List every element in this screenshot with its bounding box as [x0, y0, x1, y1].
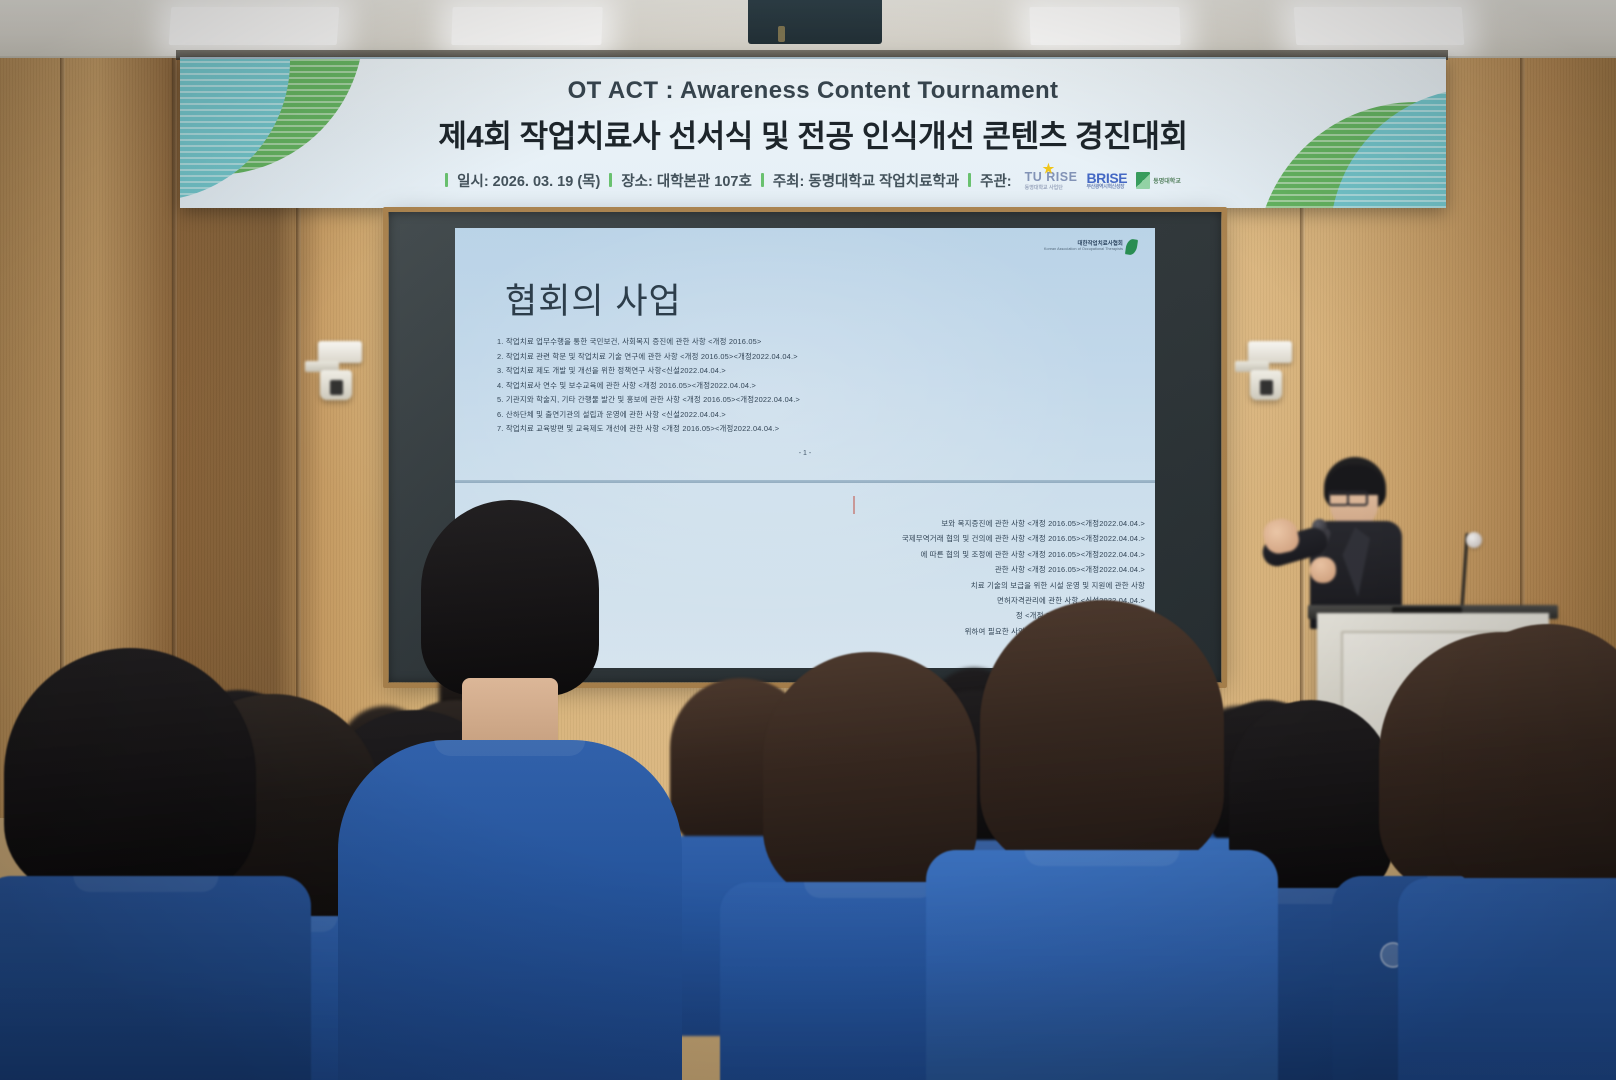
bar-separator-icon — [445, 173, 448, 187]
ceiling-light-4 — [1294, 7, 1465, 45]
event-banner: OT ACT : Awareness Content Tournament 제4… — [180, 57, 1446, 208]
audience-member-front-left — [0, 648, 300, 1080]
eyeglasses-icon — [1328, 491, 1368, 502]
camera-mount — [1248, 341, 1292, 363]
presenter-hand-holding-mic — [1310, 557, 1336, 583]
lecture-hall-photo: OT ACT : Awareness Content Tournament 제4… — [0, 0, 1616, 1080]
ceiling-projector — [748, 0, 882, 44]
banner-sponsor-logos: ★ TU RISE 동명대학교 사업단 BRISE 부산광역시혁신성장 — [1025, 170, 1181, 191]
banner-meta-row: 일시: 2026. 03. 19 (목) 장소: 대학본관 107호 주최: 동… — [445, 170, 1181, 191]
uniform-top — [338, 740, 682, 1080]
hair — [980, 600, 1224, 868]
audience-member-edge-right — [1478, 624, 1616, 1080]
sponsor-logo-brise: BRISE 부산광역시혁신성장 — [1086, 171, 1127, 190]
banner-korean-title: 제4회 작업치료사 선서식 및 전공 인식개선 콘텐츠 경진대회 — [438, 111, 1187, 156]
camera-lens-icon — [1260, 380, 1273, 395]
bar-separator-icon — [609, 173, 612, 187]
sponsor-logo-turise: ★ TU RISE 동명대학교 사업단 — [1025, 170, 1078, 191]
uniform-top — [1398, 878, 1616, 1080]
camera-head — [1250, 370, 1282, 400]
audience-member-center — [330, 500, 690, 1080]
hair — [4, 648, 256, 894]
bar-separator-icon — [968, 173, 971, 187]
security-camera-left — [312, 341, 364, 403]
ceiling-light-2 — [451, 7, 602, 45]
sponsor-sub-1: 부산광역시혁신성장 — [1086, 185, 1127, 190]
gooseneck-mic-head — [1466, 532, 1482, 548]
ceiling-light-1 — [169, 7, 340, 45]
suit-lapel — [1340, 527, 1370, 597]
book-icon — [1136, 172, 1150, 189]
hair — [421, 500, 599, 696]
collar — [434, 740, 585, 756]
banner-meta-organizer: 주관: — [980, 170, 1012, 191]
collar — [73, 876, 218, 892]
banner-meta-place: 장소: 대학본관 107호 — [621, 170, 751, 191]
uniform-top — [926, 850, 1278, 1080]
ceiling-light-3 — [1029, 7, 1180, 45]
collar — [804, 882, 936, 898]
sponsor-logo-university: 동명대학교 — [1136, 172, 1181, 189]
hair — [1443, 624, 1616, 894]
camera-lens-icon — [330, 380, 343, 395]
star-icon: ★ — [1043, 161, 1055, 177]
banner-meta-host: 주최: 동명대학교 작업치료학과 — [773, 170, 959, 191]
banner-english-title: OT ACT : Awareness Content Tournament — [568, 77, 1059, 105]
banner-meta-date: 일시: 2026. 03. 19 (목) — [457, 170, 600, 191]
camera-head — [320, 370, 352, 400]
audience-member-front-right — [952, 600, 1252, 1080]
uniform-top — [0, 876, 311, 1080]
bar-separator-icon — [761, 173, 764, 187]
collar — [1025, 850, 1180, 866]
camera-mount — [318, 341, 362, 363]
security-camera-right — [1242, 341, 1294, 403]
projector-lens-icon — [778, 26, 785, 42]
presenter — [1268, 457, 1428, 627]
sponsor-name-2: 동명대학교 — [1153, 176, 1181, 185]
sponsor-sub-0: 동명대학교 사업단 — [1025, 184, 1078, 191]
